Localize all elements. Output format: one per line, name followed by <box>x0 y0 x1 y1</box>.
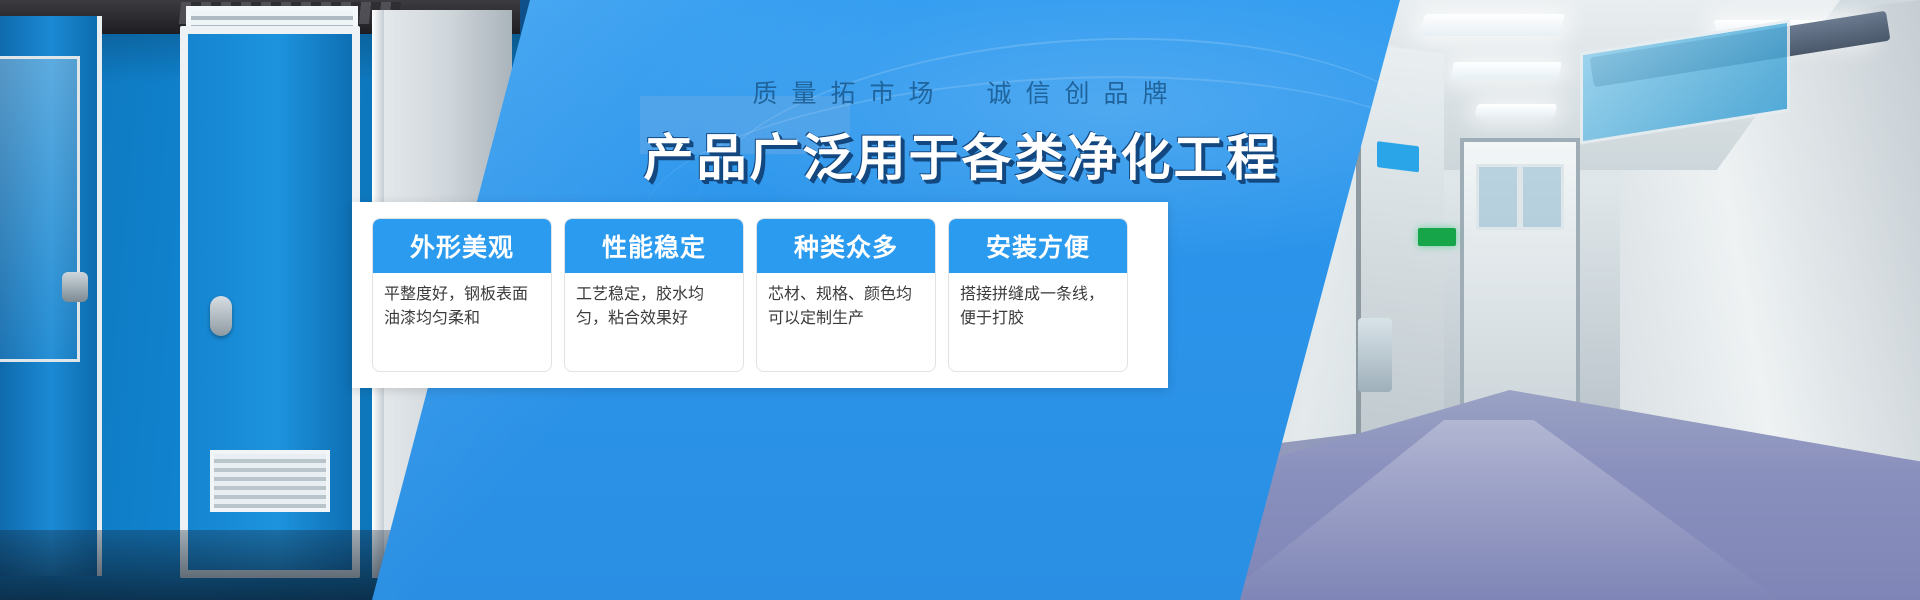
banner-tagline: 质量拓市场 诚信创品牌 <box>0 74 1920 110</box>
feature-body-1: 平整度好，钢板表面油漆均匀柔和 <box>373 273 551 371</box>
feature-card-strip: 外形美观 平整度好，钢板表面油漆均匀柔和 性能稳定 工艺稳定，胶水均匀，粘合效果… <box>352 202 1168 388</box>
feature-card-2[interactable]: 性能稳定 工艺稳定，胶水均匀，粘合效果好 <box>564 218 744 372</box>
feature-title-4: 安装方便 <box>949 219 1127 273</box>
feature-card-4[interactable]: 安装方便 搭接拼缝成一条线，便于打胶 <box>948 218 1128 372</box>
door-louver-vent <box>210 450 330 512</box>
exit-sign-icon <box>1418 228 1456 246</box>
promo-banner: 质量拓市场 诚信创品牌 产品广泛用于各类净化工程 外形美观 平整度好，钢板表面油… <box>0 0 1920 600</box>
feature-title-2: 性能稳定 <box>565 219 743 273</box>
feature-body-3: 芯材、规格、颜色均可以定制生产 <box>757 273 935 371</box>
feature-title-1: 外形美观 <box>373 219 551 273</box>
feature-body-4: 搭接拼缝成一条线，便于打胶 <box>949 273 1127 371</box>
feature-card-1[interactable]: 外形美观 平整度好，钢板表面油漆均匀柔和 <box>372 218 552 372</box>
banner-headline: 产品广泛用于各类净化工程 <box>0 118 1920 190</box>
feature-card-3[interactable]: 种类众多 芯材、规格、颜色均可以定制生产 <box>756 218 936 372</box>
ceiling-light <box>1419 14 1565 36</box>
equipment-cart <box>1358 318 1392 392</box>
feature-title-3: 种类众多 <box>757 219 935 273</box>
feature-body-2: 工艺稳定，胶水均匀，粘合效果好 <box>565 273 743 371</box>
door-handle <box>210 296 232 336</box>
door-lock <box>62 272 88 302</box>
